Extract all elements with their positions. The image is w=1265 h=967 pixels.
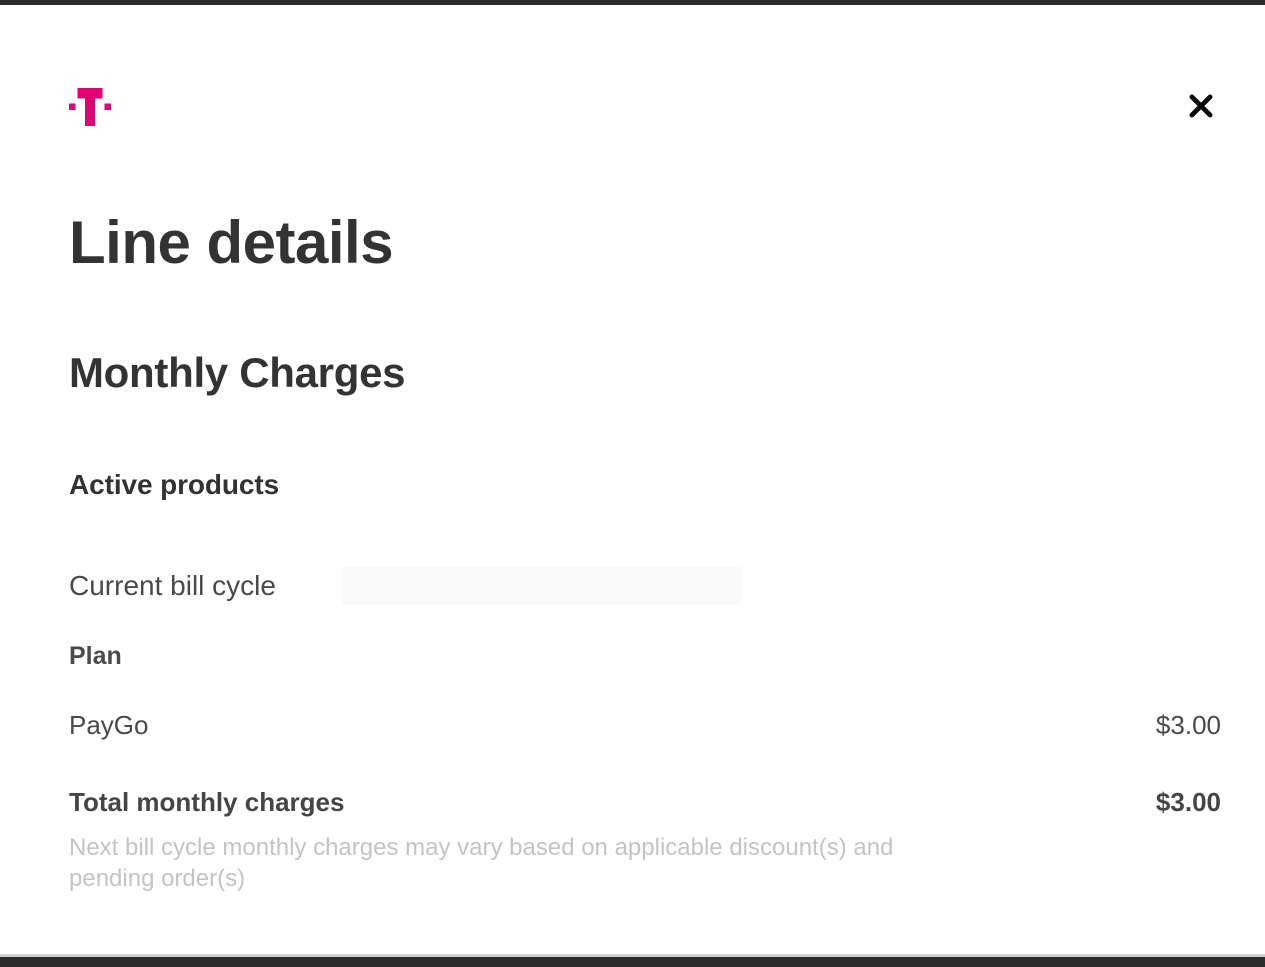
window-bottom-bar xyxy=(0,957,1265,967)
window-top-bar xyxy=(0,0,1265,5)
line-details-modal: Line details Monthly Charges Active prod… xyxy=(0,0,1265,967)
total-monthly-charges-label: Total monthly charges xyxy=(69,787,344,818)
charges-footnote: Next bill cycle monthly charges may vary… xyxy=(69,832,949,894)
current-bill-cycle-label: Current bill cycle xyxy=(69,566,276,606)
total-monthly-charges-row: Total monthly charges $3.00 xyxy=(69,787,1221,818)
total-monthly-charges-amount: $3.00 xyxy=(1156,787,1221,818)
charge-name: PayGo xyxy=(69,710,149,741)
current-bill-cycle-row: Current bill cycle xyxy=(69,566,1221,606)
close-button[interactable] xyxy=(1181,86,1221,126)
subsection-title-active-products: Active products xyxy=(69,471,279,499)
charge-amount: $3.00 xyxy=(1156,710,1221,741)
current-bill-cycle-value-redacted xyxy=(342,567,742,605)
charge-row: PayGo $3.00 xyxy=(69,710,1221,741)
modal-header xyxy=(0,80,1265,140)
t-mobile-logo xyxy=(69,88,111,126)
section-title-monthly-charges: Monthly Charges xyxy=(69,352,405,394)
charge-group-label-plan: Plan xyxy=(69,644,122,669)
close-icon xyxy=(1185,90,1217,122)
page-title: Line details xyxy=(69,213,393,273)
